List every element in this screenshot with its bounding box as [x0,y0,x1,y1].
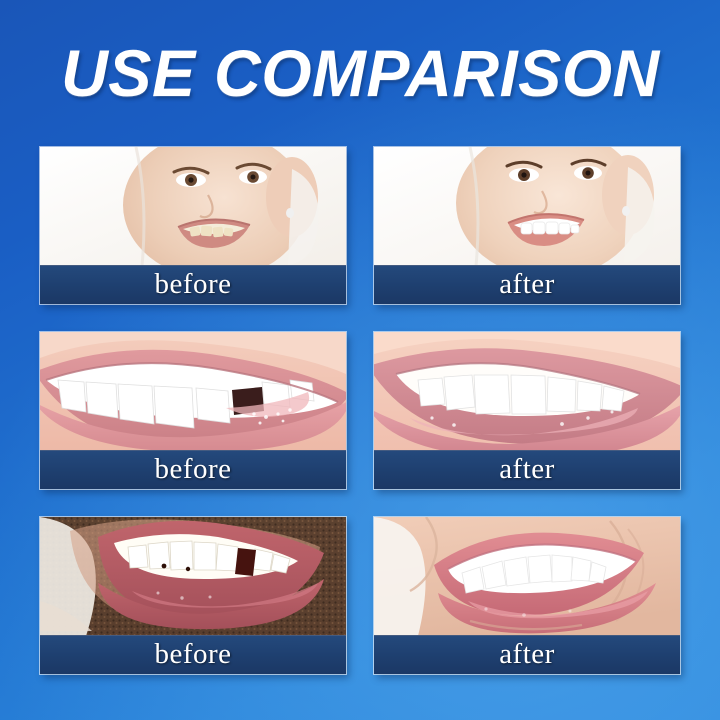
label-after: after [499,640,555,671]
comparison-panel-row3-after[interactable]: after [374,517,680,674]
comparison-panel-row1-after[interactable]: after [374,147,680,304]
label-after: after [499,270,555,301]
label-bar: after [374,450,680,489]
page-title: USE COMPARISON [61,40,660,106]
comparison-panel-row2-after[interactable]: after [374,332,680,489]
label-before: before [154,455,231,486]
woman-smiling-crooked-teeth-photo [40,147,346,266]
bearded-man-missing-tooth-photo [40,517,346,636]
comparison-grid: before [40,147,680,674]
comparison-panel-row2-before[interactable]: before [40,332,346,489]
closeup-smile-missing-tooth-gap-photo [40,332,346,451]
use-comparison-poster: USE COMPARISON [0,0,720,720]
label-before: before [154,270,231,301]
comparison-panel-row3-before[interactable]: before [40,517,346,674]
title-container: USE COMPARISON [0,40,720,106]
label-bar: before [40,635,346,674]
label-bar: after [374,265,680,304]
woman-smiling-straight-white-teeth-photo [374,147,680,266]
man-smiling-full-white-teeth-photo [374,517,680,636]
closeup-smile-complete-white-teeth-photo [374,332,680,451]
label-before: before [154,640,231,671]
label-bar: before [40,450,346,489]
label-after: after [499,455,555,486]
label-bar: before [40,265,346,304]
comparison-panel-row1-before[interactable]: before [40,147,346,304]
label-bar: after [374,635,680,674]
